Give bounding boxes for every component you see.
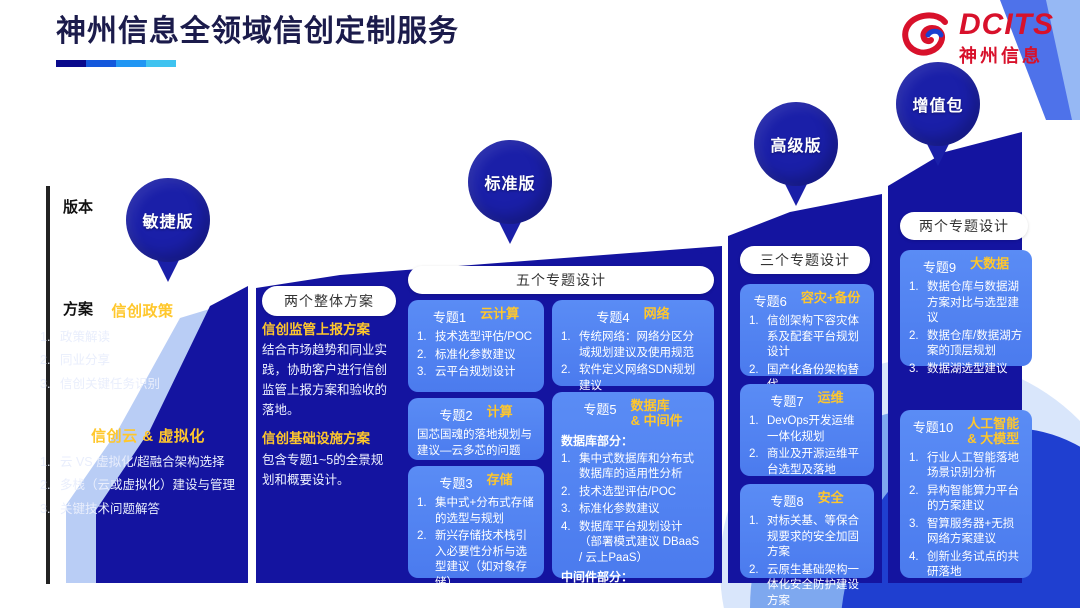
list-item: 政策解读	[40, 328, 245, 347]
pin-marker-valueadd[interactable]: 增值包	[896, 62, 980, 166]
list-item: 数据仓库与数据湖方案对比与选型建议	[909, 280, 1023, 327]
list-item: 商业及开源运维平台选型及落地	[749, 447, 865, 478]
brand-logo: DCITS 神州信息	[901, 8, 1054, 68]
agile-block-policy-title: 信创政策	[40, 300, 245, 321]
list-item: 数据湖选型建议	[909, 362, 1023, 378]
topic-card-5-head: 专题5 数据库 & 中间件	[561, 399, 705, 429]
topic-card-5-sub-mw: 中间件部分：	[561, 569, 705, 586]
topic-card-6[interactable]: 专题6 容灾+备份 信创架构下容灾体系及配套平台规划设计 国产化备份架构替代	[740, 284, 874, 376]
topic-number: 专题7	[770, 391, 803, 410]
list-item: 云 VS 虚拟化/超融合架构选择	[40, 453, 256, 472]
topic-card-8-list: 对标关基、等保合规要求的安全加固方案 云原生基础架构一体化安全防护建设方案	[749, 514, 865, 608]
overall-section-1-para: 结合市场趋势和同业实践，协助客户进行信创监管上报方案和验收的落地。	[262, 340, 394, 420]
pin-marker-standard[interactable]: 标准版	[468, 140, 552, 244]
topic-number: 专题9	[923, 257, 956, 276]
list-item: 传统网络：网络分区分域规划建议及使用规范	[561, 330, 705, 361]
topic-card-8[interactable]: 专题8 安全 对标关基、等保合规要求的安全加固方案 云原生基础架构一体化安全防护…	[740, 484, 874, 578]
topic-card-5-tail: 中间件选型策略：云原生优先+传统信创中间件+开源管理	[561, 588, 705, 608]
list-item: 数据库平台规划设计（部署模式建议 DBaaS / 云上PaaS）	[561, 520, 705, 567]
overall-section-2-para: 包含专题1~5的全景规划和概要设计。	[262, 450, 394, 490]
page-header: 神州信息全领域信创定制服务	[56, 14, 459, 67]
topic-card-2[interactable]: 专题2 计算 国芯国魂的落地规划与建议—云多芯的问题	[408, 398, 544, 460]
topic-card-4-head: 专题4 网络	[561, 307, 705, 326]
topic-number: 专题5	[583, 399, 616, 418]
topic-card-9-list: 数据仓库与数据湖方案对比与选型建议 数据仓库/数据湖方案的顶层规划 数据湖选型建…	[909, 280, 1023, 377]
axis-label-version: 版本	[63, 196, 93, 217]
topic-category: 计算	[487, 405, 513, 420]
overall-section-2-head: 信创基础设施方案	[262, 429, 394, 449]
logo-brand-cn: 神州信息	[959, 42, 1054, 68]
logo-brand: DCITS	[959, 10, 1054, 40]
list-item: 标准化参数建议	[417, 348, 535, 364]
list-item: 信创关键任务识别	[40, 375, 245, 394]
topic-category: 运维	[818, 391, 844, 406]
topic-number: 专题3	[439, 473, 472, 492]
list-item: 技术选型评估/POC	[417, 330, 535, 346]
list-item: 数据仓库/数据湖方案的顶层规划	[909, 329, 1023, 360]
topic-card-10-list: 行业人工智能落地场景识别分析 异构智能算力平台的方案建议 智算服务器+无损网络方…	[909, 451, 1023, 581]
topic-card-1-head: 专题1 云计算	[417, 307, 535, 326]
topic-category: 数据库 & 中间件	[631, 399, 683, 429]
topic-card-1[interactable]: 专题1 云计算 技术选型评估/POC 标准化参数建议 云平台规划设计	[408, 300, 544, 392]
title-underline	[56, 60, 176, 67]
topic-category: 人工智能 & 大模型	[967, 417, 1019, 447]
topic-category: 网络	[644, 307, 670, 322]
topic-category: 容灾+备份	[801, 291, 861, 306]
topic-card-1-list: 技术选型评估/POC 标准化参数建议 云平台规划设计	[417, 330, 535, 381]
list-item: 软件定义网络SDN规划建议	[561, 363, 705, 394]
pin-label: 增值包	[896, 62, 980, 146]
pill-two-topic-designs[interactable]: 两个专题设计	[900, 212, 1028, 240]
topic-card-10-head: 专题10 人工智能 & 大模型	[909, 417, 1023, 447]
agile-block-cloud-list: 云 VS 虚拟化/超融合架构选择 多栈（云或虚拟化）建设与管理 关键技术问题解答	[40, 453, 256, 519]
list-item: 新兴存储技术栈引入必要性分析与选型建议（如对象存储）	[417, 529, 535, 591]
topic-card-2-head: 专题2 计算	[417, 405, 535, 424]
topic-category: 大数据	[970, 257, 1009, 272]
topic-card-10[interactable]: 专题10 人工智能 & 大模型 行业人工智能落地场景识别分析 异构智能算力平台的…	[900, 410, 1032, 578]
list-item: 云原生基础架构一体化安全防护建设方案	[749, 563, 865, 608]
list-item: 智算服务器+无损网络方案建议	[909, 517, 1023, 548]
pin-label: 标准版	[468, 140, 552, 224]
pin-marker-advanced[interactable]: 高级版	[754, 102, 838, 206]
topic-card-7[interactable]: 专题7 运维 DevOps开发运维一体化规划 商业及开源运维平台选型及落地	[740, 384, 874, 476]
topic-number: 专题6	[754, 291, 787, 310]
topic-card-5[interactable]: 专题5 数据库 & 中间件 数据库部分： 集中式数据库和分布式数据库的适用性分析…	[552, 392, 714, 578]
topic-category: 云计算	[480, 307, 519, 322]
topic-number: 专题8	[770, 491, 803, 510]
topic-card-2-text: 国芯国魂的落地规划与建议—云多芯的问题	[417, 428, 535, 459]
list-item: 创新业务试点的共研落地	[909, 550, 1023, 581]
topic-card-7-list: DevOps开发运维一体化规划 商业及开源运维平台选型及落地	[749, 414, 865, 478]
pill-three-topic-designs[interactable]: 三个专题设计	[740, 246, 870, 274]
list-item: 集中式数据库和分布式数据库的适用性分析	[561, 452, 705, 483]
topic-card-6-list: 信创架构下容灾体系及配套平台规划设计 国产化备份架构替代	[749, 314, 865, 394]
list-item: 多栈（云或虚拟化）建设与管理	[40, 476, 256, 495]
topic-card-4[interactable]: 专题4 网络 传统网络：网络分区分域规划建议及使用规范 软件定义网络SDN规划建…	[552, 300, 714, 386]
topic-number: 专题10	[913, 417, 953, 436]
topic-card-7-head: 专题7 运维	[749, 391, 865, 410]
topic-card-9[interactable]: 专题9 大数据 数据仓库与数据湖方案对比与选型建议 数据仓库/数据湖方案的顶层规…	[900, 250, 1032, 366]
overall-section-1-head: 信创监管上报方案	[262, 320, 394, 340]
pill-two-overall-plans[interactable]: 两个整体方案	[262, 286, 396, 316]
list-item: 异构智能算力平台的方案建议	[909, 484, 1023, 515]
topic-card-3-head: 专题3 存储	[417, 473, 535, 492]
agile-block-policy-list: 政策解读 同业分享 信创关键任务识别	[40, 328, 245, 394]
list-item: 标准化参数建议	[561, 502, 705, 518]
topic-card-3-list: 集中式+分布式存储的选型与规划 新兴存储技术栈引入必要性分析与选型建议（如对象存…	[417, 496, 535, 591]
list-item: 同业分享	[40, 351, 245, 370]
agile-block-cloud-title: 信创云 & 虚拟化	[40, 425, 256, 446]
topic-category: 存储	[487, 473, 513, 488]
agile-block-policy: 信创政策 政策解读 同业分享 信创关键任务识别	[40, 300, 245, 398]
topic-card-5-list: 集中式数据库和分布式数据库的适用性分析 技术选型评估/POC 标准化参数建议 数…	[561, 452, 705, 567]
page-title: 神州信息全领域信创定制服务	[56, 14, 459, 50]
pill-five-topic-designs[interactable]: 五个专题设计	[408, 266, 714, 294]
list-item: 对标关基、等保合规要求的安全加固方案	[749, 514, 865, 561]
standard-overall-body: 信创监管上报方案 结合市场趋势和同业实践，协助客户进行信创监管上报方案和验收的落…	[262, 320, 394, 490]
topic-number: 专题2	[439, 405, 472, 424]
list-item: 集中式+分布式存储的选型与规划	[417, 496, 535, 527]
topic-card-5-sub-db: 数据库部分：	[561, 433, 705, 450]
dcits-swirl-icon	[901, 8, 953, 60]
pin-label: 高级版	[754, 102, 838, 186]
topic-card-3[interactable]: 专题3 存储 集中式+分布式存储的选型与规划 新兴存储技术栈引入必要性分析与选型…	[408, 466, 544, 578]
topic-card-4-list: 传统网络：网络分区分域规划建议及使用规范 软件定义网络SDN规划建议	[561, 330, 705, 394]
list-item: 关键技术问题解答	[40, 500, 256, 519]
topic-card-8-head: 专题8 安全	[749, 491, 865, 510]
topic-card-9-head: 专题9 大数据	[909, 257, 1023, 276]
list-item: 行业人工智能落地场景识别分析	[909, 451, 1023, 482]
pin-label: 敏捷版	[126, 178, 210, 262]
topic-category: 安全	[818, 491, 844, 506]
topic-number: 专题1	[433, 307, 466, 326]
topic-number: 专题4	[596, 307, 629, 326]
pin-marker-agile[interactable]: 敏捷版	[126, 178, 210, 282]
list-item: 云平台规划设计	[417, 365, 535, 381]
list-item: 技术选型评估/POC	[561, 485, 705, 501]
list-item: 信创架构下容灾体系及配套平台规划设计	[749, 314, 865, 361]
logo-text: DCITS 神州信息	[959, 8, 1054, 68]
topic-card-6-head: 专题6 容灾+备份	[749, 291, 865, 310]
agile-block-cloud: 信创云 & 虚拟化 云 VS 虚拟化/超融合架构选择 多栈（云或虚拟化）建设与管…	[40, 425, 256, 523]
list-item: DevOps开发运维一体化规划	[749, 414, 865, 445]
